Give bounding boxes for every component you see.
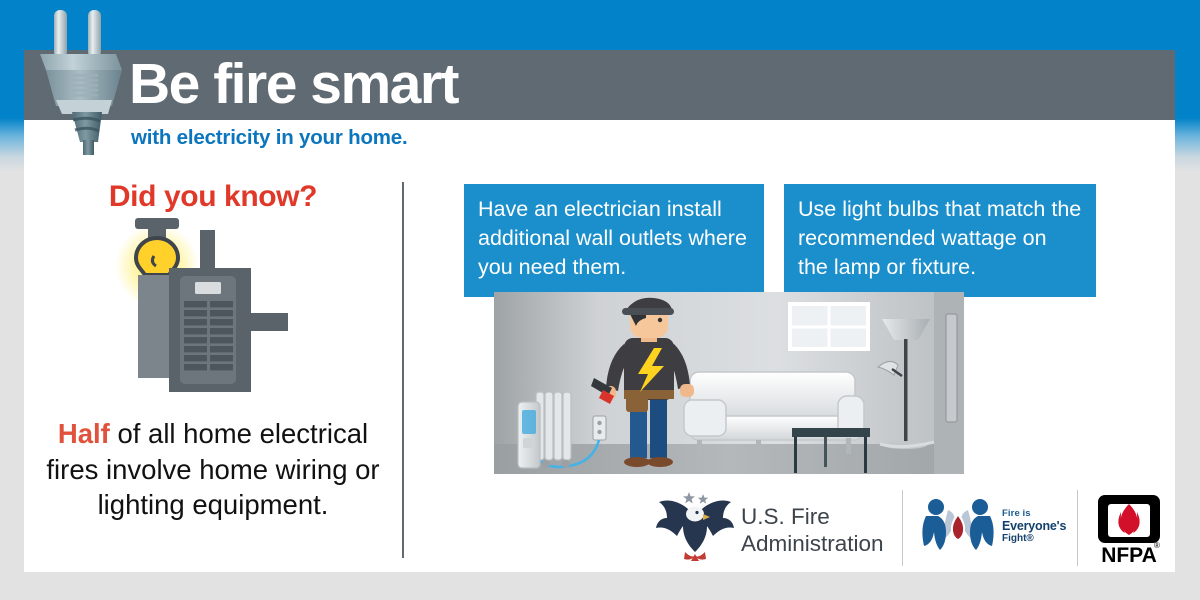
feef-line-3: Fight® xyxy=(1002,533,1034,544)
nfpa-registered-mark: ® xyxy=(1154,541,1160,550)
feef-line-2: Everyone's xyxy=(1002,519,1066,533)
electrical-plug-icon xyxy=(32,2,136,158)
left-statistic-text: Half of all home electrical fires involv… xyxy=(32,416,394,523)
page-subtitle: with electricity in your home. xyxy=(131,122,408,154)
infographic-root: Be fire smart with electricity in your h… xyxy=(0,0,1200,600)
tip-bubble-outlets: Have an electrician install additional w… xyxy=(464,184,764,297)
column-divider xyxy=(402,182,404,558)
fire-is-everyones-fight-logo: Fire is Everyone's Fight® xyxy=(918,494,1068,562)
tip-bubble-wattage: Use light bulbs that match the recommend… xyxy=(784,184,1096,297)
nfpa-logo: NFPA ® xyxy=(1095,492,1167,566)
eagle-icon xyxy=(655,488,735,564)
living-room-scene-illustration xyxy=(494,292,964,474)
usfa-logo-text: U.S. Fire Administration xyxy=(741,503,884,557)
page-title: Be fire smart xyxy=(129,49,458,119)
logo-strip: U.S. Fire Administration Fire is Everyon… xyxy=(640,484,1175,572)
us-fire-administration-logo: U.S. Fire Administration xyxy=(655,488,915,568)
feef-line-1: Fire is xyxy=(1002,508,1031,519)
logo-divider-1 xyxy=(902,490,903,566)
wall-outlet-icon xyxy=(593,416,606,440)
nfpa-wordmark: NFPA xyxy=(1101,544,1157,566)
space-heater-icon xyxy=(518,392,571,468)
electrical-breaker-panel-with-hanging-lightbulb-icon xyxy=(110,218,300,408)
window-icon xyxy=(790,304,868,349)
did-you-know-heading: Did you know? xyxy=(24,180,402,214)
statistic-highlight: Half xyxy=(58,418,110,449)
logo-divider-2 xyxy=(1077,490,1078,566)
two-people-with-flame-icon xyxy=(918,494,998,556)
